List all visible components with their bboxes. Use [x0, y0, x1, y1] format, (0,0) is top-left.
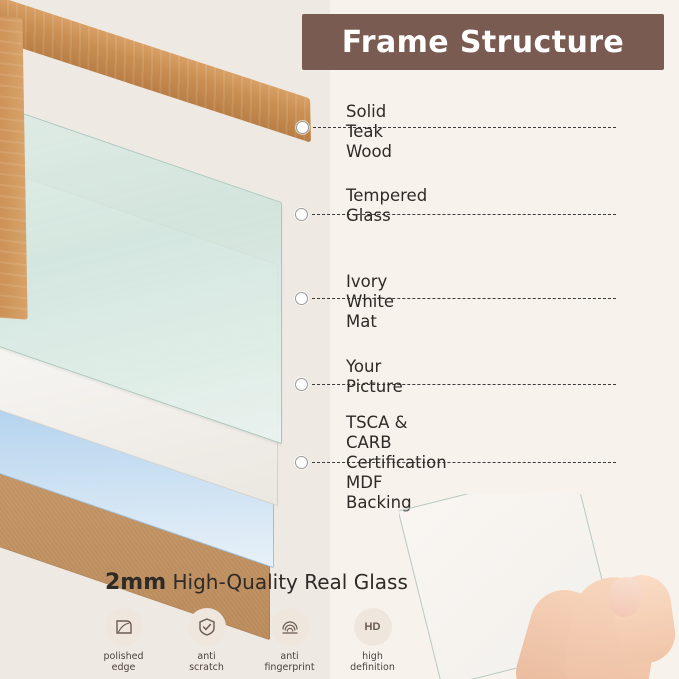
glass-feature-section: 2mm High-Quality Real Glass polished edg…	[0, 550, 679, 679]
feature-badge-anti-fingerprint: anti fingerprint	[264, 608, 315, 673]
page-title: Frame Structure	[342, 25, 624, 60]
feature-badge-high-definition: HD high definition	[347, 608, 398, 673]
shield-check-icon	[188, 608, 226, 646]
product-infographic: Frame Structure Solid Teak Wood	[0, 0, 679, 679]
hd-icon-text: HD	[365, 621, 381, 633]
feature-badge-caption: anti scratch	[189, 651, 224, 673]
glass-thickness-value: 2mm	[105, 570, 166, 595]
wood-grain	[0, 14, 28, 320]
callout-dot	[296, 121, 309, 134]
fingerprint-icon	[271, 608, 309, 646]
callout-dot	[295, 208, 308, 221]
feature-badge-anti-scratch: anti scratch	[181, 608, 232, 673]
feature-badge-caption: high definition	[350, 651, 395, 673]
wood-bar-top	[0, 0, 311, 143]
feature-badge-polished-edge: polished edge	[98, 608, 149, 673]
wood-grain	[0, 0, 311, 143]
exploded-frame-illustration	[0, 0, 380, 560]
callout-label: Ivory White Mat	[346, 272, 394, 332]
callout-label: Your Picture	[346, 357, 403, 397]
glass-headline: 2mm High-Quality Real Glass	[105, 570, 408, 595]
feature-badge-caption: polished edge	[104, 651, 144, 673]
feature-badge-caption: anti fingerprint	[264, 651, 314, 673]
feature-badge-list: polished edge anti scratch	[98, 608, 398, 673]
glass-headline-text: High-Quality Real Glass	[166, 570, 408, 594]
callout-label: Tempered Glass	[346, 186, 427, 226]
hand-holding-glass-photo	[399, 494, 679, 679]
callout-label: Solid Teak Wood	[346, 102, 392, 162]
callout-dot	[295, 456, 308, 469]
hd-icon: HD	[354, 608, 392, 646]
callout-dot	[295, 378, 308, 391]
callout-dot	[295, 292, 308, 305]
polished-edge-icon	[105, 608, 143, 646]
wood-bar-left	[0, 14, 28, 320]
